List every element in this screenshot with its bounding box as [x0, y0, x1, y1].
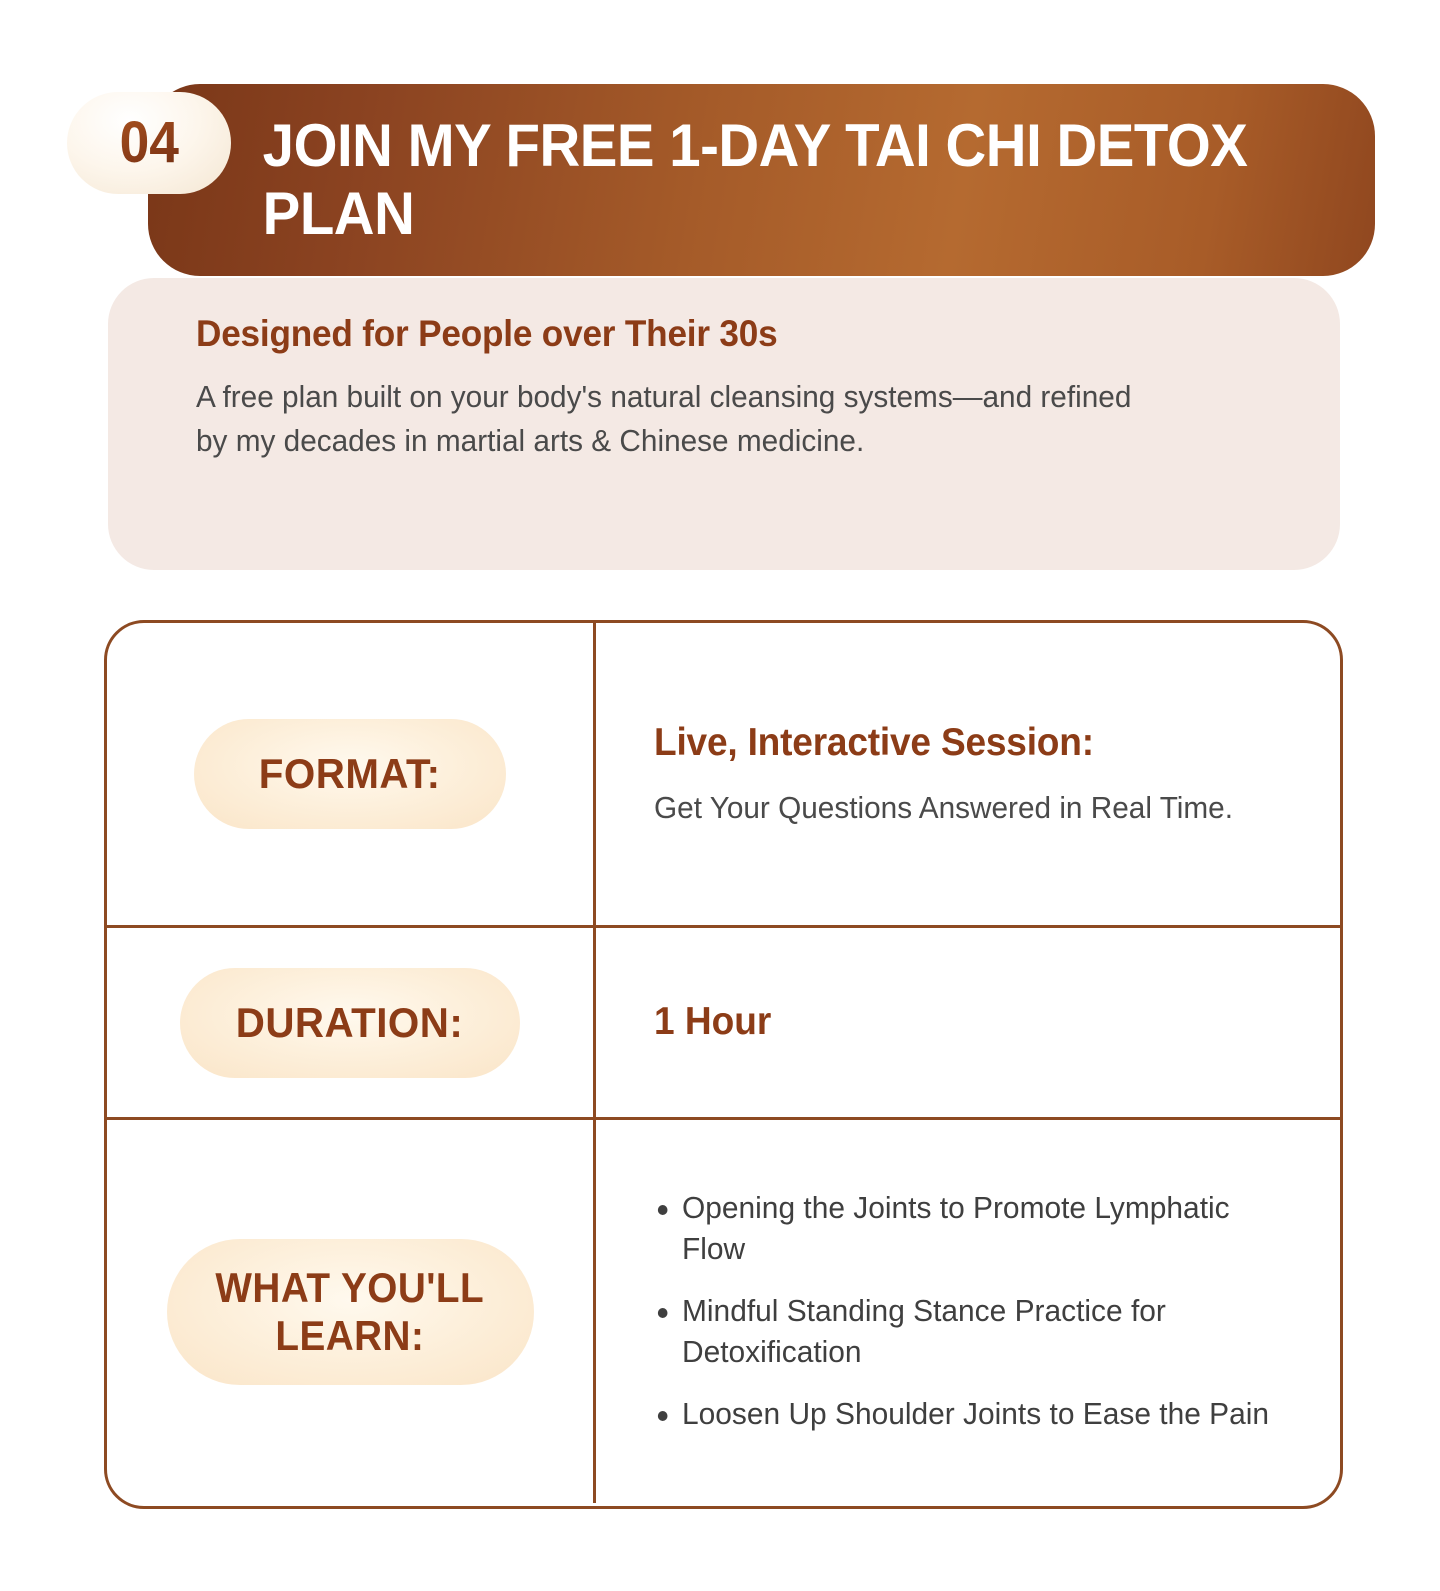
infographic-root: JOIN MY FREE 1-DAY TAI CHI DETOX PLAN 04…	[0, 0, 1440, 1591]
learn-label-text: WHAT YOU'LL LEARN:	[210, 1264, 490, 1358]
page-title: JOIN MY FREE 1-DAY TAI CHI DETOX PLAN	[148, 112, 1301, 248]
intro-card: Designed for People over Their 30s A fre…	[108, 278, 1340, 570]
format-label-text: FORMAT:	[259, 750, 441, 797]
table-row: FORMAT: Live, Interactive Session: Get Y…	[107, 623, 1340, 928]
table-cell-value-format: Live, Interactive Session: Get Your Ques…	[596, 623, 1340, 925]
table-cell-label-duration: DURATION:	[107, 928, 596, 1117]
duration-value-text: 1 Hour	[654, 999, 1262, 1046]
table-cell-label-format: FORMAT:	[107, 623, 596, 925]
duration-label-pill: DURATION:	[180, 968, 520, 1078]
step-number-label: 04	[119, 114, 178, 172]
format-value-title: Live, Interactive Session:	[654, 720, 1262, 767]
header-banner: JOIN MY FREE 1-DAY TAI CHI DETOX PLAN	[148, 84, 1375, 276]
learn-label-line2: LEARN:	[275, 1312, 424, 1359]
table-row: WHAT YOU'LL LEARN: Opening the Joints to…	[107, 1120, 1340, 1503]
learn-label-pill: WHAT YOU'LL LEARN:	[167, 1239, 534, 1385]
table-row: DURATION: 1 Hour	[107, 928, 1340, 1120]
list-item: Mindful Standing Stance Practice for Det…	[654, 1291, 1272, 1372]
learn-bullet-list: Opening the Joints to Promote Lymphatic …	[654, 1188, 1294, 1435]
table-cell-value-learn: Opening the Joints to Promote Lymphatic …	[596, 1120, 1340, 1503]
learn-label-line1: WHAT YOU'LL	[216, 1264, 485, 1311]
table-cell-value-duration: 1 Hour	[596, 928, 1340, 1117]
format-value-body: Get Your Questions Answered in Real Time…	[654, 787, 1268, 828]
duration-label-text: DURATION:	[236, 999, 464, 1046]
details-table: FORMAT: Live, Interactive Session: Get Y…	[104, 620, 1343, 1509]
intro-heading: Designed for People over Their 30s	[196, 312, 1224, 356]
list-item: Opening the Joints to Promote Lymphatic …	[654, 1188, 1272, 1269]
intro-body: A free plan built on your body's natural…	[196, 375, 1156, 463]
step-number-badge: 04	[67, 92, 231, 194]
list-item: Loosen Up Shoulder Joints to Ease the Pa…	[654, 1394, 1272, 1435]
format-label-pill: FORMAT:	[194, 719, 506, 829]
table-cell-label-learn: WHAT YOU'LL LEARN:	[107, 1120, 596, 1503]
